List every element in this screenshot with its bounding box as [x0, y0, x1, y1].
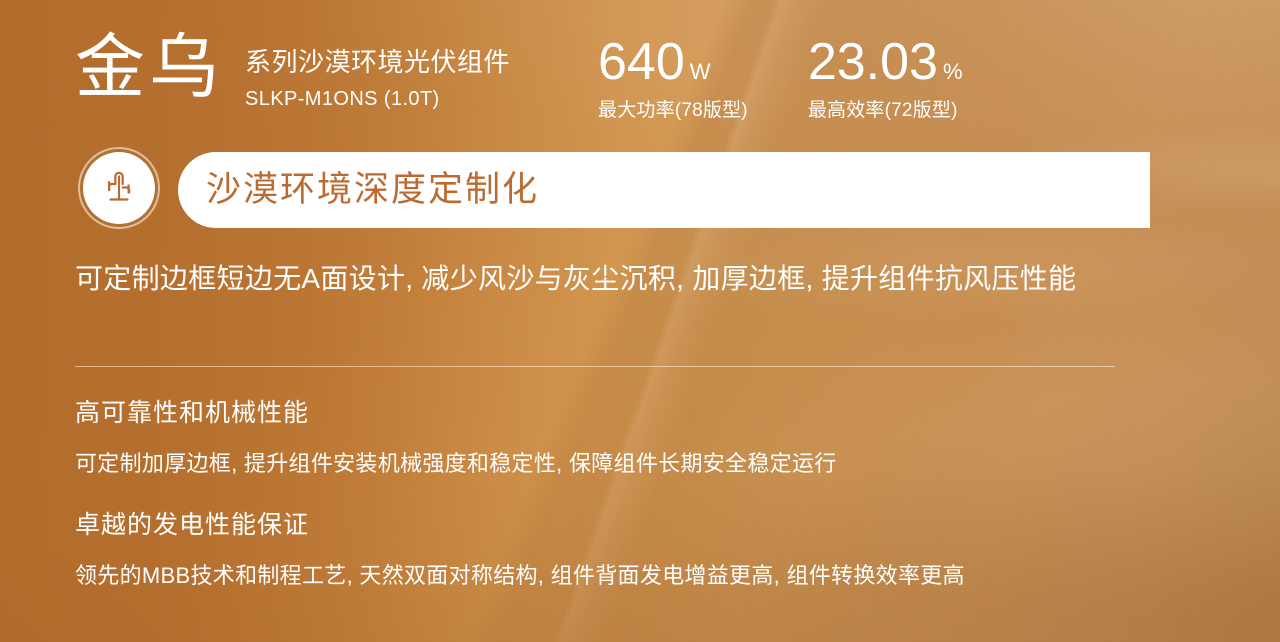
- spec-max-efficiency-unit: %: [943, 57, 963, 87]
- spec-max-power-number: 640: [598, 32, 685, 92]
- spec-max-efficiency-value: 23.03 %: [808, 32, 963, 92]
- spec-max-power-value: 640 W: [598, 32, 748, 92]
- section-banner-title: 沙漠环境深度定制化: [206, 168, 539, 212]
- feature-title: 高可靠性和机械性能: [75, 396, 837, 430]
- banner-row: 沙漠环境深度定制化: [0, 152, 1280, 230]
- spec-max-efficiency-number: 23.03: [808, 32, 938, 92]
- feature-title: 卓越的发电性能保证: [75, 508, 965, 542]
- spec-max-power-unit: W: [690, 57, 711, 87]
- content-root: 金乌 系列沙漠环境光伏组件 SLKP-M1ONS (1.0T) 640 W 最大…: [0, 0, 1280, 642]
- brand-series-label: 系列沙漠环境光伏组件: [245, 45, 510, 79]
- spec-max-efficiency-label: 最高效率(72版型): [808, 98, 963, 124]
- cactus-icon: [100, 168, 138, 208]
- brand-name: 金乌: [75, 28, 223, 106]
- lead-paragraph: 可定制边框短边无A面设计, 减少风沙与灰尘沉积, 加厚边框, 提升组件抗风压性能: [75, 258, 1145, 300]
- section-divider: [75, 366, 1115, 367]
- spec-group: 640 W 最大功率(78版型) 23.03 % 最高效率(72版型): [598, 28, 963, 124]
- feature-description: 领先的MBB技术和制程工艺, 天然双面对称结构, 组件背面发电增益更高, 组件转…: [75, 560, 965, 592]
- section-banner: 沙漠环境深度定制化: [178, 152, 1150, 228]
- spec-max-efficiency: 23.03 % 最高效率(72版型): [808, 32, 963, 124]
- feature-description: 可定制加厚边框, 提升组件安装机械强度和稳定性, 保障组件长期安全稳定运行: [75, 448, 837, 480]
- spec-max-power: 640 W 最大功率(78版型): [598, 32, 748, 124]
- product-banner-page: 金乌 系列沙漠环境光伏组件 SLKP-M1ONS (1.0T) 640 W 最大…: [0, 0, 1280, 642]
- cactus-badge: [83, 152, 155, 224]
- brand-model-code: SLKP-M1ONS (1.0T): [245, 85, 510, 113]
- feature-item-reliability: 高可靠性和机械性能 可定制加厚边框, 提升组件安装机械强度和稳定性, 保障组件长…: [75, 396, 837, 480]
- header: 金乌 系列沙漠环境光伏组件 SLKP-M1ONS (1.0T) 640 W 最大…: [75, 28, 1205, 133]
- spec-max-power-label: 最大功率(78版型): [598, 98, 748, 124]
- feature-item-performance: 卓越的发电性能保证 领先的MBB技术和制程工艺, 天然双面对称结构, 组件背面发…: [75, 508, 965, 592]
- brand-text-block: 系列沙漠环境光伏组件 SLKP-M1ONS (1.0T): [245, 28, 510, 113]
- brand-block: 金乌 系列沙漠环境光伏组件 SLKP-M1ONS (1.0T): [75, 28, 510, 113]
